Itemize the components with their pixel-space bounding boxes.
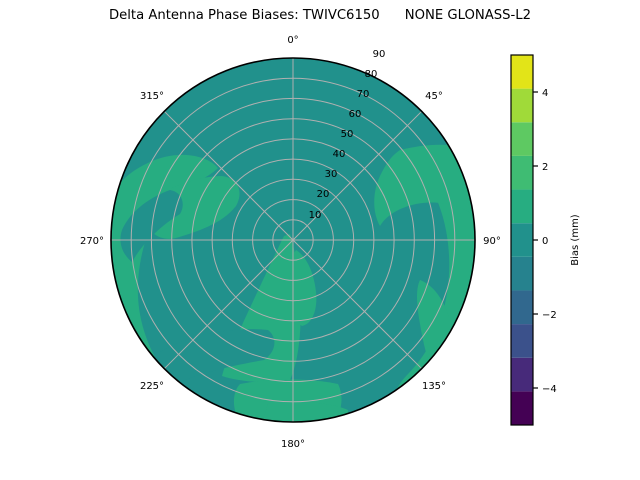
contour-region-west-rim [79, 170, 116, 370]
r-tick-70: 70 [357, 89, 370, 100]
colorbar-band-2 [511, 358, 533, 392]
colorbar-band-8 [511, 156, 533, 190]
polar-grid-spokes [111, 58, 475, 422]
theta-tick-225: 225° [140, 381, 164, 392]
r-tick-90: 90 [373, 49, 386, 60]
colorbar[interactable]: −4 −2 0 2 4 Bias (mm) [511, 55, 581, 425]
r-tick-50: 50 [341, 129, 354, 140]
theta-tick-315: 315° [140, 91, 164, 102]
theta-tick-45: 45° [425, 91, 443, 102]
theta-tick-180: 180° [281, 439, 305, 450]
plot-svg: 0° 45° 90° 135° 180° 225° 270° 315° 10 2… [0, 0, 640, 480]
colorbar-band-6 [511, 223, 533, 257]
colorbar-tick-minus2: −2 [542, 310, 557, 321]
r-tick-40: 40 [333, 149, 346, 160]
colorbar-band-7 [511, 190, 533, 224]
figure-canvas: Delta Antenna Phase Biases: TWIVC6150 NO… [0, 0, 640, 480]
colorbar-tick-two: 2 [542, 162, 548, 173]
colorbar-band-9 [511, 122, 533, 156]
colorbar-band-4 [511, 290, 533, 324]
r-tick-80: 80 [365, 69, 378, 80]
colorbar-band-5 [511, 257, 533, 291]
colorbar-band-10 [511, 89, 533, 123]
theta-tick-270: 270° [80, 236, 104, 247]
colorbar-band-11 [511, 55, 533, 89]
theta-tick-90: 90° [483, 236, 501, 247]
theta-tick-135: 135° [422, 381, 446, 392]
theta-tick-0: 0° [287, 35, 298, 46]
colorbar-tick-labels: −4 −2 0 2 4 [542, 88, 557, 395]
r-tick-60: 60 [349, 109, 362, 120]
colorbar-tick-four: 4 [542, 88, 548, 99]
colorbar-ticks [533, 92, 538, 388]
colorbar-band-1 [511, 391, 533, 425]
colorbar-tick-minus4: −4 [542, 384, 557, 395]
r-tick-30: 30 [325, 169, 338, 180]
r-tick-20: 20 [317, 189, 330, 200]
colorbar-bands [511, 55, 533, 425]
r-tick-10: 10 [309, 210, 322, 221]
colorbar-axis-label: Bias (mm) [570, 214, 581, 266]
colorbar-band-3 [511, 324, 533, 358]
colorbar-tick-zero: 0 [542, 236, 548, 247]
